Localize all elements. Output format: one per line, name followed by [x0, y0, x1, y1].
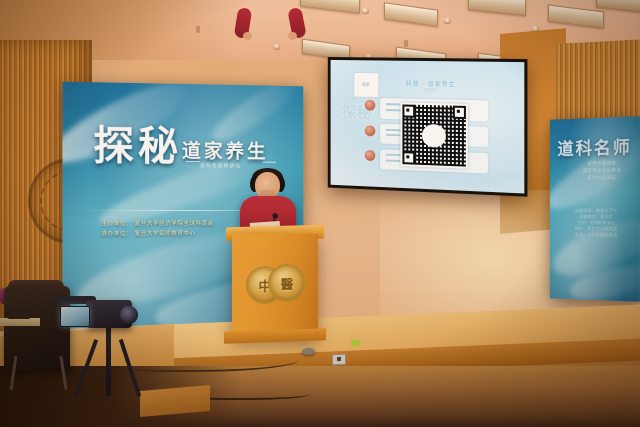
recessed-troffer-light	[468, 0, 526, 16]
side-table	[0, 318, 40, 326]
user-avatar-icon	[364, 150, 375, 161]
banner-title: 探秘	[93, 113, 182, 172]
side-banner-detail: 协办：养生文化研究会	[575, 226, 617, 231]
auditorium-photo: 科学 科普 · 道家养生 扫码关注 探秘	[0, 0, 640, 427]
recessed-troffer-light	[548, 5, 604, 29]
slide-logo: 科学	[353, 71, 379, 97]
user-avatar-icon	[364, 100, 375, 111]
side-banner-title: 道科名师	[557, 133, 631, 160]
qr-pattern	[402, 105, 466, 167]
side-banner-details: 讲座时间：每周六下午 讲座地点：报告厅 主办：名师教育中心 协办：养生文化研究会…	[559, 208, 633, 239]
slide-header: 科普 · 道家养生 扫码关注	[406, 79, 456, 94]
side-banner-line: 道家养生文化传承	[583, 168, 622, 174]
side-banner-line: 名老中医讲座	[587, 161, 616, 167]
recessed-downlight	[362, 8, 369, 13]
table-items	[6, 310, 32, 319]
side-standing-banner: 道科名师 名老中医讲座 道家养生文化传承 系列公益讲坛 讲座时间：每周六下午 讲…	[550, 116, 640, 302]
side-banner-detail: 欢迎广大市民踊跃参加	[575, 232, 617, 237]
lectern-seal-icon: 醫	[268, 264, 306, 302]
banner-rule	[186, 161, 200, 162]
side-banner-detail: 讲座时间：每周六下午	[575, 208, 617, 213]
projection-screen: 科学 科普 · 道家养生 扫码关注 探秘	[331, 60, 525, 194]
qr-center-logo	[423, 125, 445, 146]
side-banner-line: 系列公益讲坛	[587, 175, 616, 180]
side-banner-detail: 讲座地点：报告厅	[579, 214, 613, 219]
presenter-hand-left	[243, 32, 252, 40]
banner-subtitle-small: 道科名老师讲坛	[200, 162, 241, 169]
sprinkler-head	[196, 26, 200, 33]
projection-screen-frame: 科学 科普 · 道家养生 扫码关注 探秘	[328, 57, 528, 197]
presenter-hand-right	[288, 32, 297, 40]
camera-tripod	[106, 324, 111, 396]
recessed-troffer-light	[300, 0, 360, 14]
recessed-troffer-light	[384, 2, 438, 27]
recessed-downlight	[444, 18, 451, 23]
sprinkler-head	[404, 40, 408, 47]
green-object	[351, 340, 360, 346]
camera-lcd-screen	[60, 306, 90, 327]
floor-outlet-plate	[332, 354, 346, 365]
camera-lens	[120, 306, 138, 324]
side-banner-detail: 主办：名师教育中心	[577, 220, 615, 225]
banner-organizers: 主办单位： 复旦大学经济学院全球科普会 协办单位： 复旦大学名师教育中心	[101, 219, 213, 239]
qr-finder-icon	[453, 106, 466, 119]
user-avatar-icon	[364, 125, 375, 136]
banner-organizer-line: 协办单位： 复旦大学名师教育中心	[101, 231, 195, 237]
recessed-downlight	[274, 44, 280, 49]
qr-code	[400, 103, 468, 169]
banner-rule	[263, 162, 277, 163]
banner-organizer-line: 主办单位： 复旦大学经济学院全球科普会	[101, 221, 213, 227]
side-banner-lines: 名老中医讲座 道家养生文化传承 系列公益讲坛	[571, 159, 634, 181]
banner-subtitle: 道家养生	[182, 136, 268, 164]
qr-finder-icon	[402, 152, 415, 165]
qr-finder-icon	[402, 105, 415, 118]
